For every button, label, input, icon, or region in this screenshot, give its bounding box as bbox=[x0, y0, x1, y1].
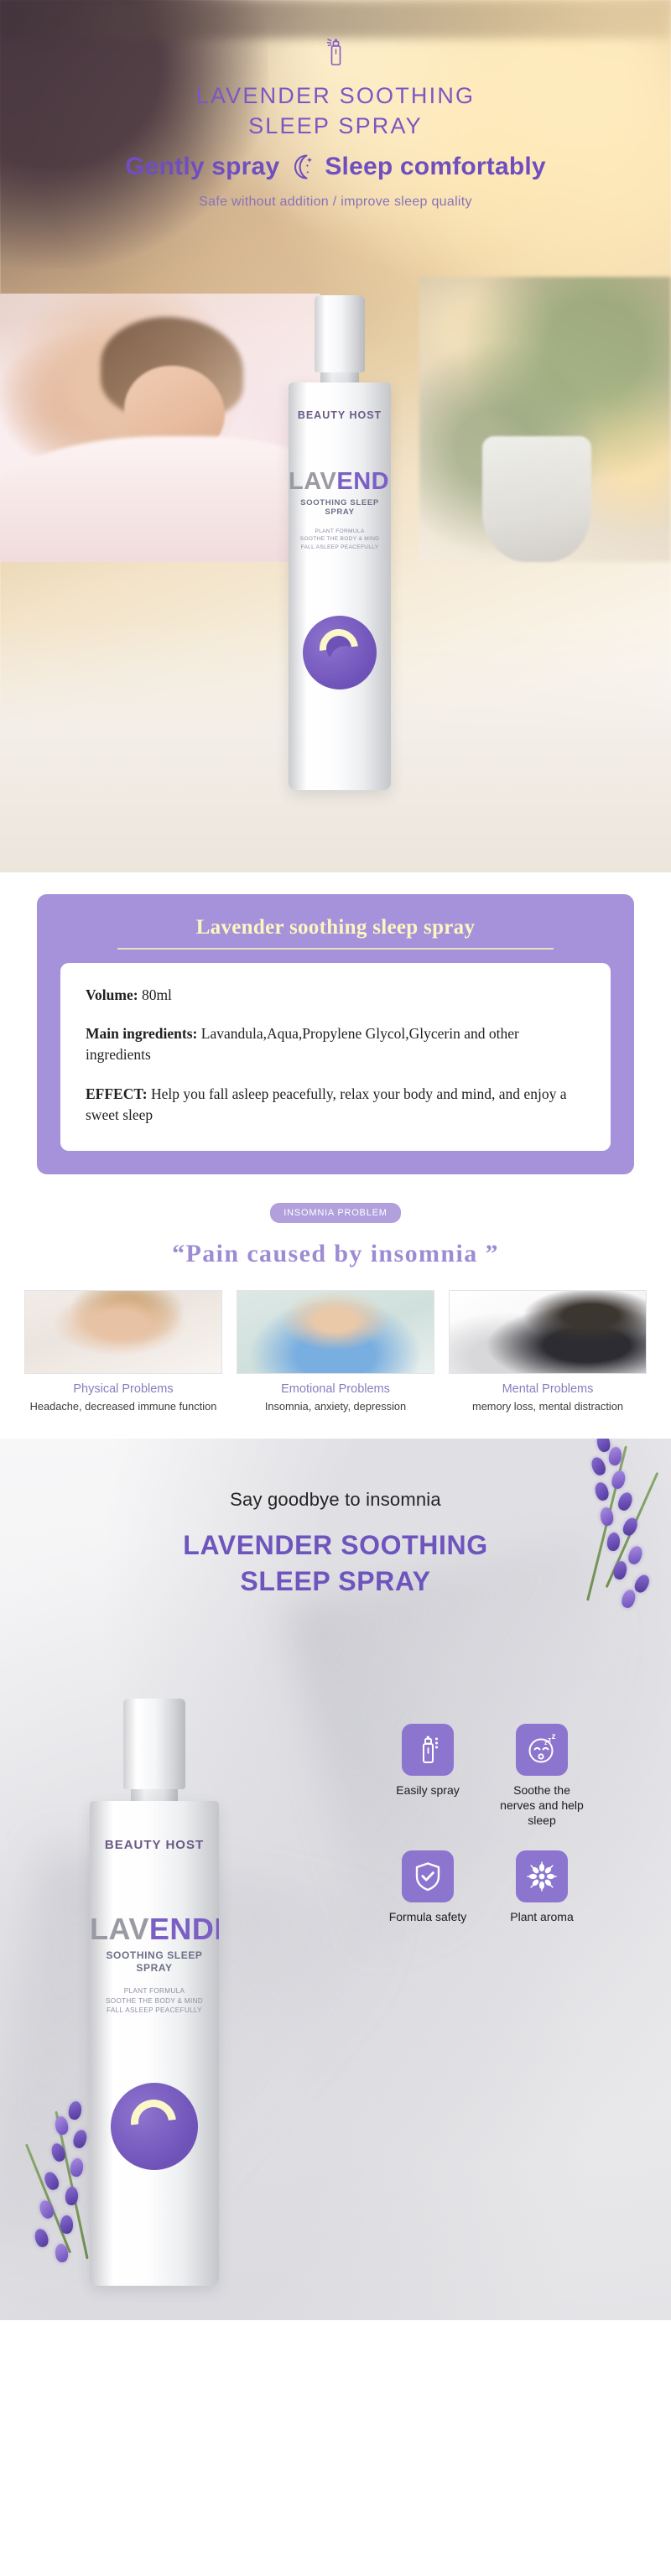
svg-text:z: z bbox=[552, 1734, 556, 1741]
insomnia-problem-badge: INSOMNIA PROBLEM bbox=[270, 1203, 400, 1223]
bottle-name-part-1: LAV bbox=[90, 1912, 149, 1946]
hero-title: LAVENDER SOOTHING SLEEP SPRAY bbox=[0, 81, 671, 141]
insomnia-quote-heading: “Pain caused by insomnia ” bbox=[0, 1240, 671, 1268]
hero-tagline-right: Sleep comfortably bbox=[325, 153, 545, 181]
bottle-subtitle-line-1: SOOTHING SLEEP bbox=[289, 498, 391, 507]
bottle-cap bbox=[123, 1699, 185, 1789]
hero-background-shelf bbox=[0, 0, 671, 39]
feature-grid: Easily spray z z z Soothe the nerves and… bbox=[386, 1724, 584, 1925]
hero-tagline-left: Gently spray bbox=[125, 153, 279, 181]
bottom-eyebrow: Say goodbye to insomnia bbox=[0, 1489, 671, 1511]
hero-vase bbox=[482, 436, 591, 562]
bottle-cap bbox=[315, 295, 365, 372]
feature-icon-wrap bbox=[516, 1850, 568, 1902]
info-key-ingredients: Main ingredients: bbox=[86, 1025, 197, 1042]
product-info-card: Lavender soothing sleep spray Volume: 80… bbox=[37, 894, 634, 1174]
info-card-divider bbox=[117, 948, 554, 950]
bottle-name-part-1: LAV bbox=[289, 468, 336, 495]
hero-title-line-2: SLEEP SPRAY bbox=[0, 111, 671, 141]
man-covering-face-photo bbox=[237, 1290, 434, 1374]
bottle-claims: PLANT FORMULA SOOTHE THE BODY & MIND FAL… bbox=[289, 528, 391, 552]
bottle-crescent-icon bbox=[122, 2090, 185, 2154]
bottle-subtitle: SOOTHING SLEEP SPRAY bbox=[289, 498, 391, 518]
problem-title-physical: Physical Problems bbox=[24, 1382, 222, 1396]
bottom-header: Say goodbye to insomnia LAVENDER SOOTHIN… bbox=[0, 1489, 671, 1598]
bottle-claim-1: PLANT FORMULA bbox=[289, 528, 391, 536]
bottle-moon-graphic bbox=[303, 616, 377, 690]
info-key-volume: Volume: bbox=[86, 986, 138, 1003]
problem-card-list: Physical Problems Headache, decreased im… bbox=[0, 1290, 671, 1414]
badge-container: INSOMNIA PROBLEM bbox=[0, 1203, 671, 1223]
bottle-brand: BEAUTY HOST bbox=[90, 1838, 219, 1852]
bottle-claim-3: FALL ASLEEP PEACEFULLY bbox=[289, 544, 391, 552]
bottle-subtitle-line-2: SPRAY bbox=[90, 1962, 219, 1974]
bottle-subtitle-line-2: SPRAY bbox=[289, 507, 391, 517]
info-row-ingredients: Main ingredients: Lavandula,Aqua,Propyle… bbox=[86, 1023, 585, 1065]
bottle-claim-2: SOOTHE THE BODY & MIND bbox=[90, 1996, 219, 2006]
shield-check-icon bbox=[414, 1860, 442, 1892]
hero-header: LAVENDER SOOTHING SLEEP SPRAY Gently spr… bbox=[0, 37, 671, 210]
photo-pillow bbox=[0, 436, 320, 562]
bottle-subtitle-line-1: SOOTHING SLEEP bbox=[90, 1949, 219, 1961]
insomnia-problem-section: INSOMNIA PROBLEM “Pain caused by insomni… bbox=[0, 1183, 671, 1423]
hero-tagline: Gently spray Sleep comfortably bbox=[0, 153, 671, 181]
hero-subtitle: Safe without addition / improve sleep qu… bbox=[0, 195, 671, 210]
product-bottle-bottom: BEAUTY HOST LAVENDER SOOTHING SLEEP SPRA… bbox=[81, 1699, 228, 2286]
info-card-body: Volume: 80ml Main ingredients: Lavandula… bbox=[60, 963, 611, 1151]
bottom-title-line-1: LAVENDER SOOTHING bbox=[0, 1527, 671, 1563]
feature-icon-wrap bbox=[402, 1724, 454, 1776]
bottle-name-part-2: ENDER bbox=[149, 1912, 219, 1946]
info-value-volume: 80ml bbox=[138, 986, 172, 1003]
bottle-claim-2: SOOTHE THE BODY & MIND bbox=[289, 535, 391, 544]
feature-plant-aroma: Plant aroma bbox=[500, 1850, 584, 1925]
flower-icon bbox=[526, 1860, 558, 1892]
product-bottle-hero: BEAUTY HOST LAVENDER SOOTHING SLEEP SPRA… bbox=[283, 295, 397, 790]
product-info-section: Lavender soothing sleep spray Volume: 80… bbox=[0, 872, 671, 1183]
bottle-body: BEAUTY HOST LAVENDER SOOTHING SLEEP SPRA… bbox=[90, 1801, 219, 2286]
bottom-feature-section: Say goodbye to insomnia LAVENDER SOOTHIN… bbox=[0, 1439, 671, 2320]
bottle-crescent-icon bbox=[312, 622, 367, 676]
info-row-effect: EFFECT: Help you fall asleep peacefully,… bbox=[86, 1084, 585, 1126]
feature-formula-safety: Formula safety bbox=[386, 1850, 470, 1925]
bottle-claims: PLANT FORMULA SOOTHE THE BODY & MIND FAL… bbox=[90, 1986, 219, 2017]
bottle-subtitle: SOOTHING SLEEP SPRAY bbox=[90, 1949, 219, 1973]
businessman-at-laptop-photo bbox=[449, 1290, 647, 1374]
bottle-product-name: LAVENDER bbox=[289, 470, 391, 494]
info-value-effect: Help you fall asleep peacefully, relax y… bbox=[86, 1085, 566, 1123]
problem-desc-emotional: Insomnia, anxiety, depression bbox=[237, 1399, 434, 1414]
sleeping-woman-photo bbox=[0, 294, 320, 562]
feature-label: Easily spray bbox=[386, 1783, 470, 1798]
bottom-title-line-2: SLEEP SPRAY bbox=[0, 1564, 671, 1599]
info-row-volume: Volume: 80ml bbox=[86, 985, 585, 1006]
feature-label: Formula safety bbox=[386, 1910, 470, 1925]
problem-card-mental: Mental Problems memory loss, mental dist… bbox=[449, 1290, 647, 1414]
problem-title-emotional: Emotional Problems bbox=[237, 1382, 434, 1396]
feature-label: Soothe the nerves and help sleep bbox=[500, 1783, 584, 1829]
hero-section: LAVENDER SOOTHING SLEEP SPRAY Gently spr… bbox=[0, 0, 671, 872]
bottle-claim-3: FALL ASLEEP PEACEFULLY bbox=[90, 2006, 219, 2016]
problem-card-emotional: Emotional Problems Insomnia, anxiety, de… bbox=[237, 1290, 434, 1414]
woman-headache-photo bbox=[24, 1290, 222, 1374]
problem-card-physical: Physical Problems Headache, decreased im… bbox=[24, 1290, 222, 1414]
bottle-body: BEAUTY HOST LAVENDER SOOTHING SLEEP SPRA… bbox=[289, 382, 391, 790]
product-landing-page: LAVENDER SOOTHING SLEEP SPRAY Gently spr… bbox=[0, 0, 671, 2320]
feature-label: Plant aroma bbox=[500, 1910, 584, 1925]
bottle-product-name: LAVENDER bbox=[90, 1914, 219, 1944]
spray-bottle-icon bbox=[325, 37, 346, 74]
info-key-effect: EFFECT: bbox=[86, 1085, 148, 1102]
sleeping-face-zzz-icon: z z z bbox=[526, 1734, 558, 1766]
info-card-title: Lavender soothing sleep spray bbox=[60, 916, 611, 939]
problem-desc-mental: memory loss, mental distraction bbox=[449, 1399, 647, 1414]
bottle-moon-graphic bbox=[111, 2083, 198, 2170]
spray-bottle-icon bbox=[414, 1734, 442, 1766]
feature-icon-wrap: z z z bbox=[516, 1724, 568, 1776]
feature-icon-wrap bbox=[402, 1850, 454, 1902]
feature-soothe-nerves: z z z Soothe the nerves and help sleep bbox=[500, 1724, 584, 1829]
problem-desc-physical: Headache, decreased immune function bbox=[24, 1399, 222, 1414]
problem-title-mental: Mental Problems bbox=[449, 1382, 647, 1396]
bottle-brand: BEAUTY HOST bbox=[289, 409, 391, 421]
hero-title-line-1: LAVENDER SOOTHING bbox=[0, 81, 671, 111]
bottle-claim-1: PLANT FORMULA bbox=[90, 1986, 219, 1996]
bottom-title: LAVENDER SOOTHING SLEEP SPRAY bbox=[0, 1527, 671, 1598]
feature-easily-spray: Easily spray bbox=[386, 1724, 470, 1829]
bottle-name-part-2: ENDER bbox=[336, 468, 391, 495]
crescent-moon-stars-icon bbox=[288, 153, 316, 181]
